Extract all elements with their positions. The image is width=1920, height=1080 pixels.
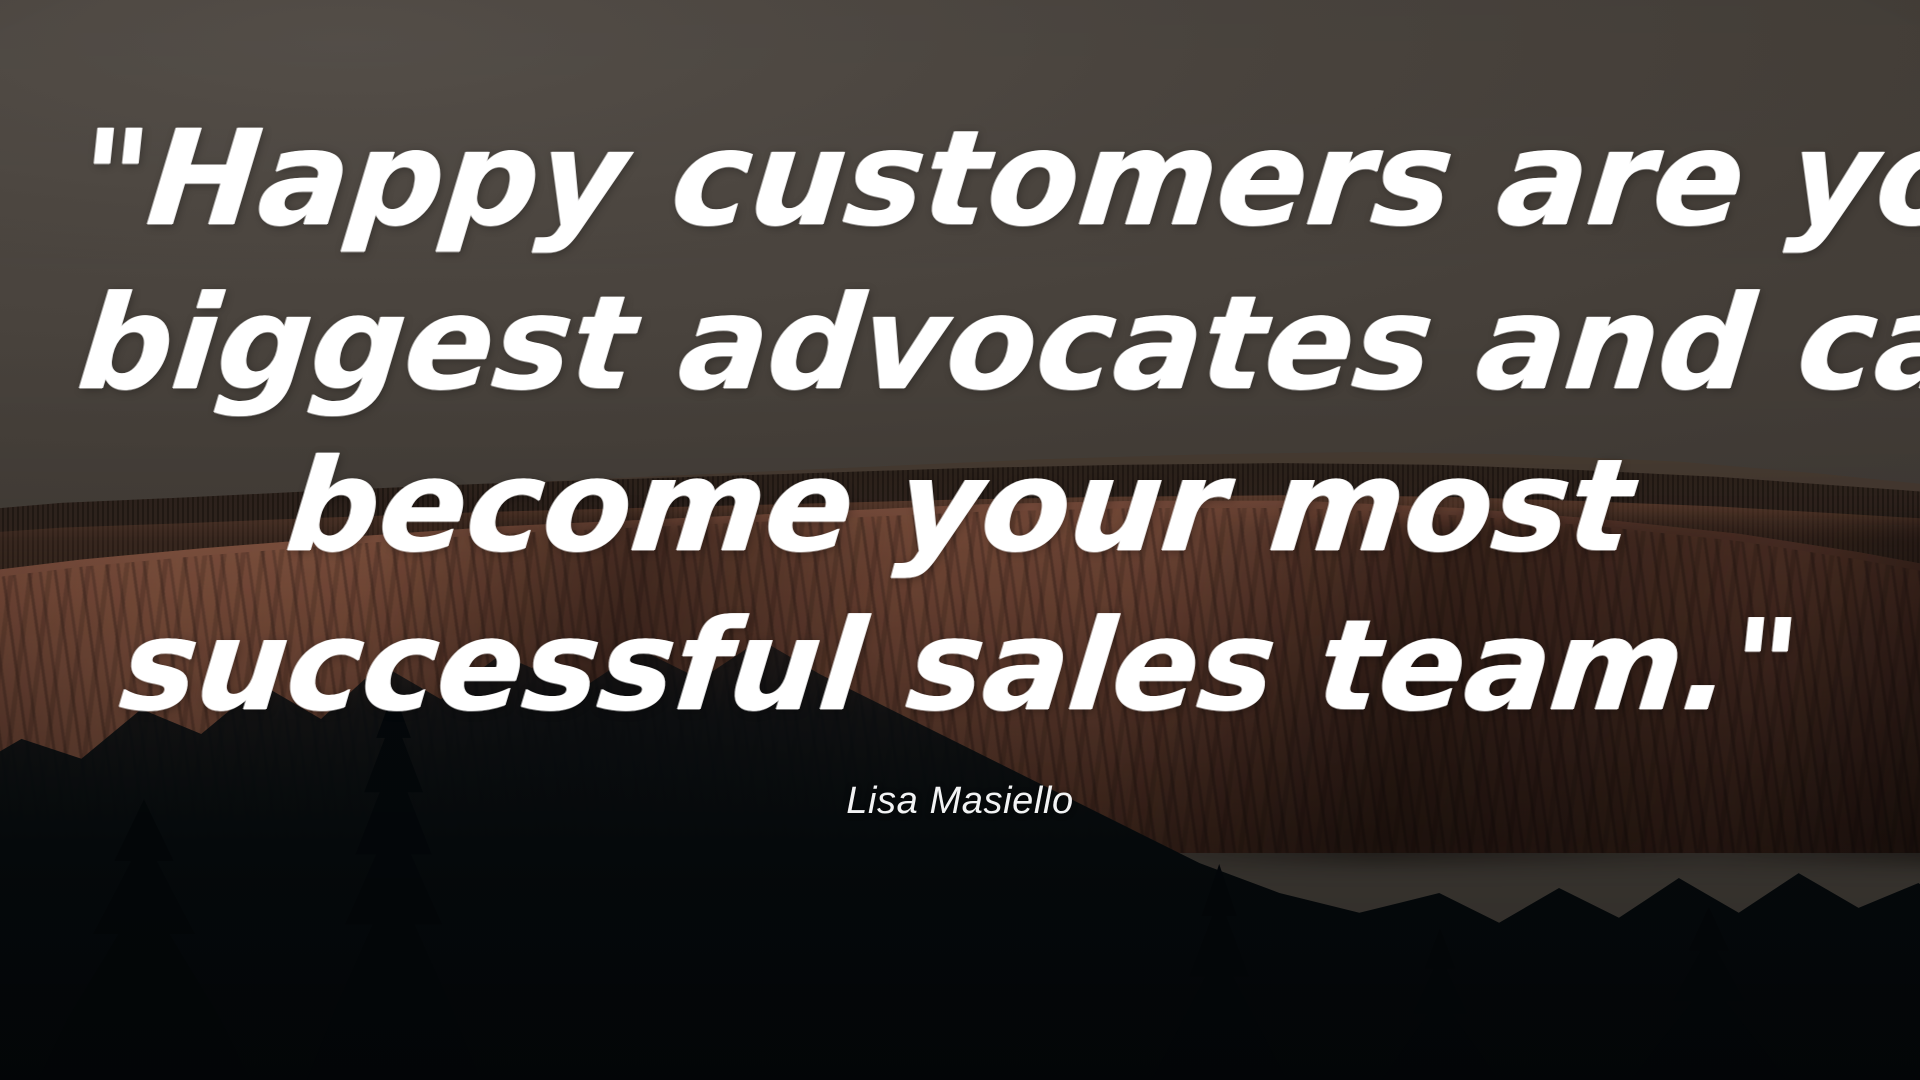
quote-line-2: biggest advocates and can [71, 262, 1848, 426]
quote-attribution: Lisa Masiello [846, 780, 1073, 823]
card-content: "Happy customers are your biggest advoca… [0, 0, 1920, 1080]
quote-line-1: "Happy customers are your [71, 96, 1848, 262]
quote-card: "Happy customers are your biggest advoca… [0, 0, 1920, 1080]
quote-text: "Happy customers are your biggest advoca… [80, 96, 1840, 746]
quote-line-4: successful sales team." [72, 587, 1849, 746]
quote-line-3: become your most [72, 426, 1849, 587]
